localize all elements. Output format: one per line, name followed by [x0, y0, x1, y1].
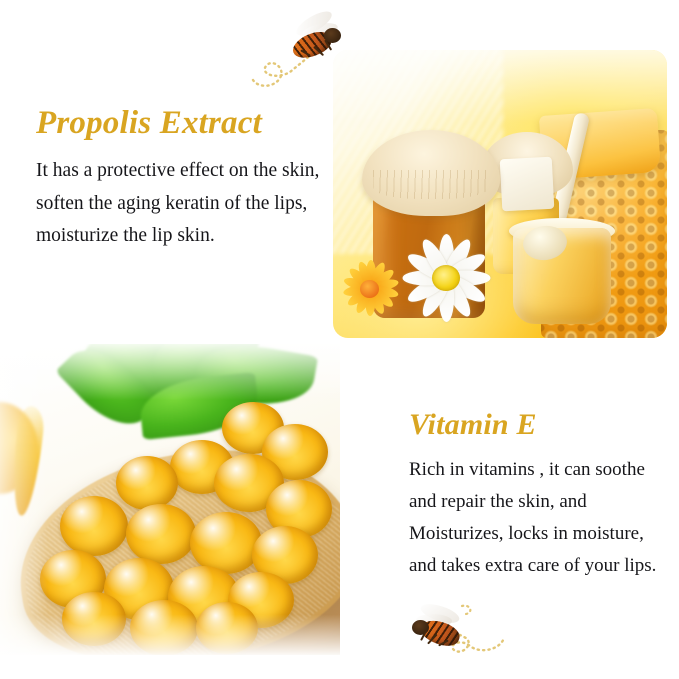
second-jar-label — [500, 157, 555, 212]
photo-edge-fade — [0, 344, 340, 655]
vitamin-e-description: Rich in vitamins , it can soothe and rep… — [409, 454, 667, 582]
vitamin-e-text-block: Vitamin E Rich in vitamins , it can soot… — [409, 406, 667, 582]
daisy-flower-graphic — [393, 226, 499, 330]
bee-top — [250, 14, 350, 90]
marigold-flower-graphic — [337, 256, 403, 320]
honey-jars-photo — [333, 50, 667, 338]
propolis-heading: Propolis Extract — [36, 103, 322, 143]
propolis-description: It has a protective effect on the skin, … — [36, 155, 322, 253]
vitamin-e-heading: Vitamin E — [409, 406, 667, 444]
bee-head — [412, 620, 429, 635]
infographic-canvas: Propolis Extract It has a protective eff… — [0, 0, 679, 679]
propolis-text-block: Propolis Extract It has a protective eff… — [36, 103, 322, 253]
bee-bottom — [404, 604, 520, 668]
vitamin-e-capsules-photo — [0, 344, 340, 655]
